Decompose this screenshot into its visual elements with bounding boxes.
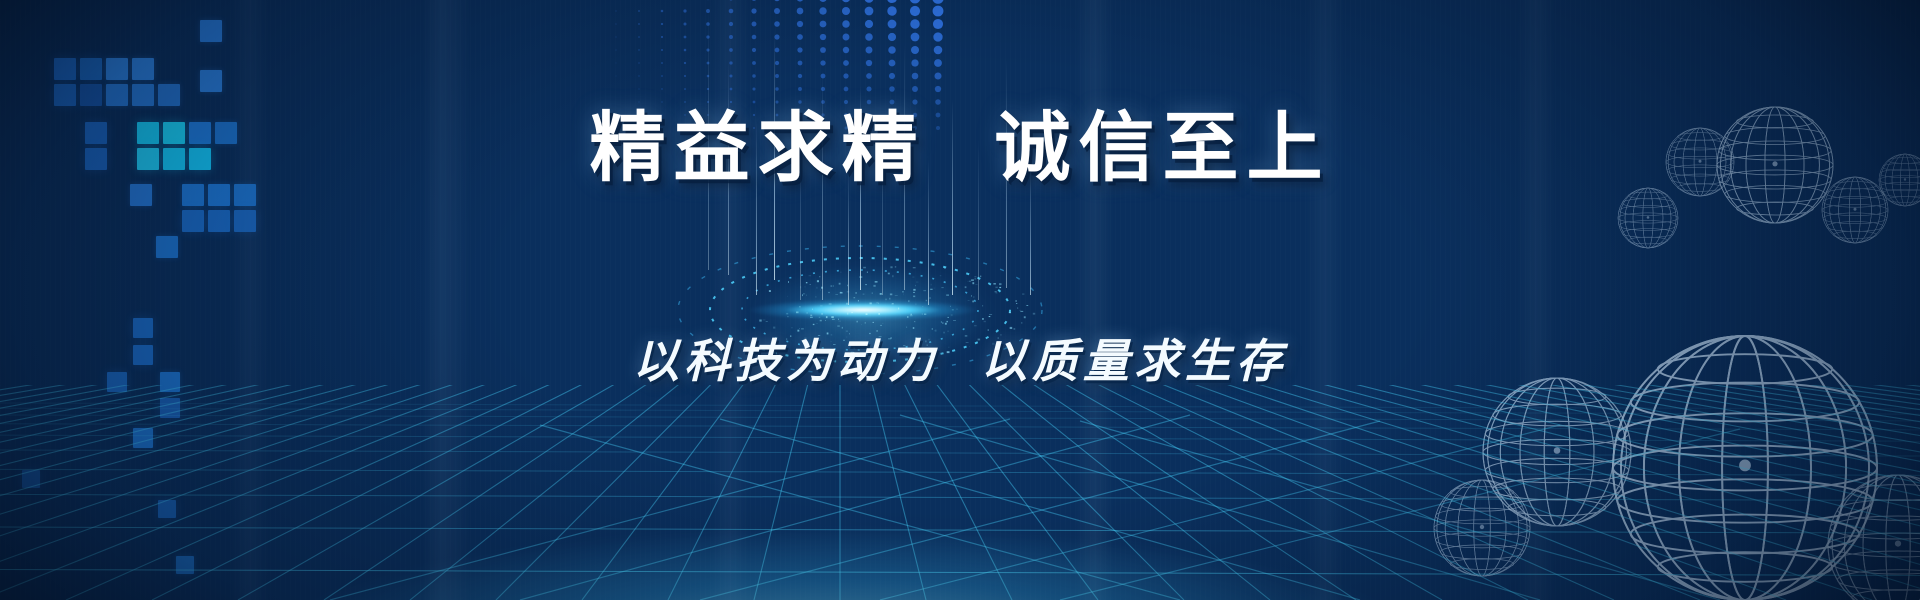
mosaic-square: [106, 84, 128, 106]
mosaic-square: [80, 84, 102, 106]
mosaic-square: [80, 58, 102, 80]
wireframe-globe: [1618, 188, 1678, 248]
mosaic-square: [158, 84, 180, 106]
mosaic-square: [234, 210, 256, 232]
core-lens-flare: [748, 290, 978, 330]
mosaic-square: [182, 184, 204, 206]
floor-glow: [0, 410, 1920, 600]
mosaic-square: [130, 184, 152, 206]
hero-banner: 精益求精 诚信至上 以科技为动力 以质量求生存: [0, 0, 1920, 600]
mosaic-square: [132, 84, 154, 106]
wireframe-globe: [1822, 177, 1888, 243]
mosaic-square: [208, 210, 230, 232]
perspective-grid-floor: [0, 385, 1920, 600]
banner-subtitle: 以科技为动力 以质量求生存: [0, 338, 1920, 384]
mosaic-square: [234, 184, 256, 206]
mosaic-square: [133, 318, 153, 338]
mosaic-square: [106, 58, 128, 80]
mosaic-square: [200, 70, 222, 92]
mosaic-square: [156, 236, 178, 258]
mosaic-square: [54, 84, 76, 106]
mosaic-square: [200, 20, 222, 42]
mosaic-square: [182, 210, 204, 232]
banner-title: 精益求精 诚信至上: [0, 110, 1920, 186]
mosaic-square: [54, 58, 76, 80]
mosaic-square: [132, 58, 154, 80]
mosaic-square: [208, 184, 230, 206]
